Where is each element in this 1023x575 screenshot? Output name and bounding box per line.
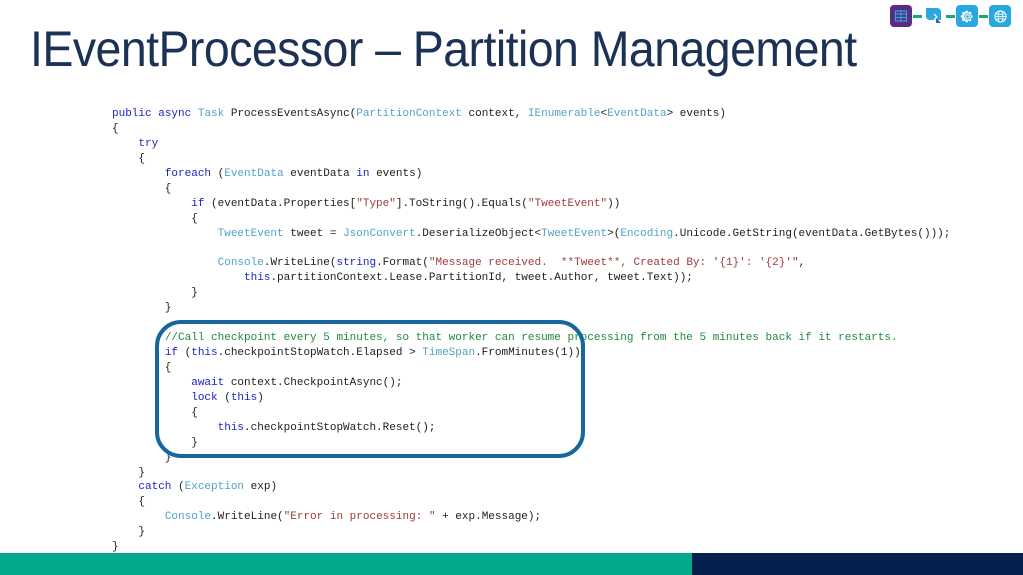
code-line: this.checkpointStopWatch.Reset(); <box>112 421 950 436</box>
code-token: } <box>112 526 145 538</box>
code-token: } <box>112 302 171 314</box>
code-line: if (this.checkpointStopWatch.Elapsed > T… <box>112 346 950 361</box>
code-token: { <box>112 213 198 225</box>
code-token: ) <box>257 392 264 404</box>
code-token <box>112 481 138 493</box>
code-line: { <box>112 495 950 510</box>
code-token: ( <box>218 392 231 404</box>
code-token <box>112 272 244 284</box>
footer-bar-navy <box>692 553 1023 575</box>
code-token: context.CheckpointAsync(); <box>224 377 402 389</box>
code-line: { <box>112 212 950 227</box>
code-token: { <box>112 183 171 195</box>
globe-icon <box>989 5 1011 27</box>
code-token: this <box>191 347 217 359</box>
code-token: await <box>191 377 224 389</box>
code-token: } <box>112 452 171 464</box>
code-token <box>112 392 191 404</box>
code-line: try <box>112 137 950 152</box>
code-token: tweet = <box>284 228 343 240</box>
code-line: lock (this) <box>112 391 950 406</box>
code-line: this.partitionContext.Lease.PartitionId,… <box>112 271 950 286</box>
code-token: { <box>112 153 145 165</box>
connector-dash-2 <box>946 15 955 18</box>
code-line: ​ <box>112 241 950 256</box>
code-token: "Error in processing: " <box>284 511 436 523</box>
footer-bar-teal <box>0 553 692 575</box>
code-listing: public async Task ProcessEventsAsync(Par… <box>112 107 950 555</box>
code-token: .Unicode.GetString(eventData.GetBytes())… <box>673 228 950 240</box>
event-hub-icon <box>923 5 945 27</box>
code-token: EventData <box>224 168 283 180</box>
code-token: .partitionContext.Lease.PartitionId, twe… <box>270 272 692 284</box>
code-token: ( <box>178 347 191 359</box>
code-token: JsonConvert <box>343 228 416 240</box>
code-token: "TweetEvent" <box>528 198 607 210</box>
code-token: this <box>218 422 244 434</box>
code-line: await context.CheckpointAsync(); <box>112 376 950 391</box>
code-token: //Call checkpoint every 5 minutes, so th… <box>165 332 898 344</box>
code-token: TweetEvent <box>541 228 607 240</box>
code-line: } <box>112 301 950 316</box>
code-token: "Type" <box>356 198 396 210</box>
code-token: IEnumerable <box>528 108 601 120</box>
code-line: { <box>112 361 950 376</box>
connector-dash-3 <box>979 15 988 18</box>
code-token <box>112 138 138 150</box>
code-token: + exp.Message); <box>435 511 541 523</box>
code-token: .WriteLine( <box>211 511 284 523</box>
code-token: (eventData.Properties[ <box>204 198 356 210</box>
code-token: if <box>165 347 178 359</box>
code-line: if (eventData.Properties["Type"].ToStrin… <box>112 197 950 212</box>
code-token <box>191 108 198 120</box>
code-line: { <box>112 122 950 137</box>
code-token: .FromMinutes(1)) <box>475 347 581 359</box>
code-line: } <box>112 451 950 466</box>
code-token: } <box>112 287 198 299</box>
code-token: TimeSpan <box>422 347 475 359</box>
code-token <box>112 422 218 434</box>
code-token: .checkpointStopWatch.Elapsed > <box>218 347 423 359</box>
code-token: Exception <box>185 481 244 493</box>
code-line: Console.WriteLine("Error in processing: … <box>112 510 950 525</box>
code-token: try <box>138 138 158 150</box>
code-token <box>112 377 191 389</box>
code-line: { <box>112 152 950 167</box>
page-title: IEventProcessor – Partition Management <box>30 24 857 74</box>
code-token: Console <box>218 257 264 269</box>
code-token: } <box>112 467 145 479</box>
code-line: ​ <box>112 316 950 331</box>
slide-canvas: IEventProcessor – Partition Management p… <box>0 0 1023 575</box>
code-token <box>112 347 165 359</box>
code-token: ].ToString().Equals( <box>396 198 528 210</box>
code-token: ( <box>171 481 184 493</box>
code-token: Task <box>198 108 224 120</box>
code-token <box>112 257 218 269</box>
architecture-icon-strip <box>890 4 1011 28</box>
code-token: catch <box>138 481 171 493</box>
code-token: .checkpointStopWatch.Reset(); <box>244 422 435 434</box>
code-token: Console <box>165 511 211 523</box>
code-line: { <box>112 406 950 421</box>
code-token: lock <box>191 392 217 404</box>
code-line: Console.WriteLine(string.Format("Message… <box>112 256 950 271</box>
code-line: public async Task ProcessEventsAsync(Par… <box>112 107 950 122</box>
code-token <box>112 511 165 523</box>
code-token: .DeserializeObject< <box>416 228 541 240</box>
code-line: { <box>112 182 950 197</box>
code-token: events) <box>369 168 422 180</box>
code-token: ProcessEventsAsync( <box>224 108 356 120</box>
code-token: eventData <box>284 168 357 180</box>
code-token <box>112 228 218 240</box>
code-line: } <box>112 525 950 540</box>
code-token: PartitionContext <box>356 108 462 120</box>
code-token: { <box>112 496 145 508</box>
connector-dash-1 <box>913 15 922 18</box>
code-token: >( <box>607 228 620 240</box>
code-line: //Call checkpoint every 5 minutes, so th… <box>112 331 950 346</box>
database-icon <box>890 5 912 27</box>
code-token: public <box>112 108 152 120</box>
code-line: TweetEvent tweet = JsonConvert.Deseriali… <box>112 227 950 242</box>
code-token: { <box>112 362 171 374</box>
gear-icon <box>956 5 978 27</box>
code-token: , <box>799 257 806 269</box>
code-token: TweetEvent <box>218 228 284 240</box>
code-line: foreach (EventData eventData in events) <box>112 167 950 182</box>
code-token: )) <box>607 198 620 210</box>
code-line: } <box>112 466 950 481</box>
code-token: if <box>191 198 204 210</box>
code-token: this <box>244 272 270 284</box>
code-token: } <box>112 437 198 449</box>
code-token: foreach <box>165 168 211 180</box>
code-token: EventData <box>607 108 666 120</box>
code-token: } <box>112 541 119 553</box>
code-token: context, <box>462 108 528 120</box>
code-token: { <box>112 123 119 135</box>
code-token <box>112 198 191 210</box>
code-token: .WriteLine( <box>264 257 337 269</box>
code-token: > events) <box>667 108 726 120</box>
code-token: async <box>158 108 191 120</box>
code-line: } <box>112 286 950 301</box>
code-token: .Format( <box>376 257 429 269</box>
code-token: string <box>336 257 376 269</box>
code-line: } <box>112 436 950 451</box>
code-token: exp) <box>244 481 277 493</box>
code-token: this <box>231 392 257 404</box>
code-token: { <box>112 407 198 419</box>
code-token <box>112 332 165 344</box>
code-token <box>112 168 165 180</box>
code-token: Encoding <box>620 228 673 240</box>
code-line: catch (Exception exp) <box>112 480 950 495</box>
code-token: "Message received. **Tweet**, Created By… <box>429 257 799 269</box>
code-token: in <box>356 168 369 180</box>
code-token: ( <box>211 168 224 180</box>
